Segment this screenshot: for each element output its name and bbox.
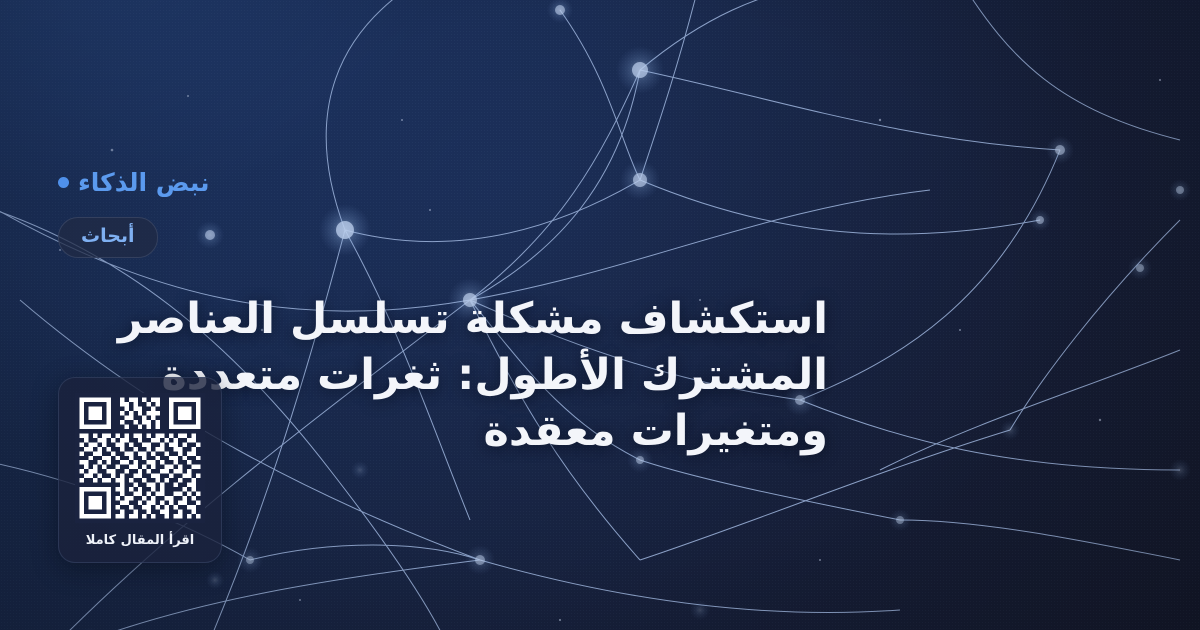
bullet-dot-icon <box>58 177 69 188</box>
social-share-card: نبض الذكاء أبحاث استكشاف مشكلة تسلسل الع… <box>0 0 1200 630</box>
brand-name: نبض الذكاء <box>78 170 210 195</box>
qr-card[interactable]: اقرأ المقال كاملا <box>58 377 222 563</box>
qr-caption: اقرأ المقال كاملا <box>86 534 195 547</box>
content-column: نبض الذكاء أبحاث استكشاف مشكلة تسلسل الع… <box>58 0 1200 630</box>
qr-code-icon <box>75 393 205 523</box>
category-badge: أبحاث <box>58 217 158 258</box>
brand-logo: نبض الذكاء <box>58 170 210 195</box>
